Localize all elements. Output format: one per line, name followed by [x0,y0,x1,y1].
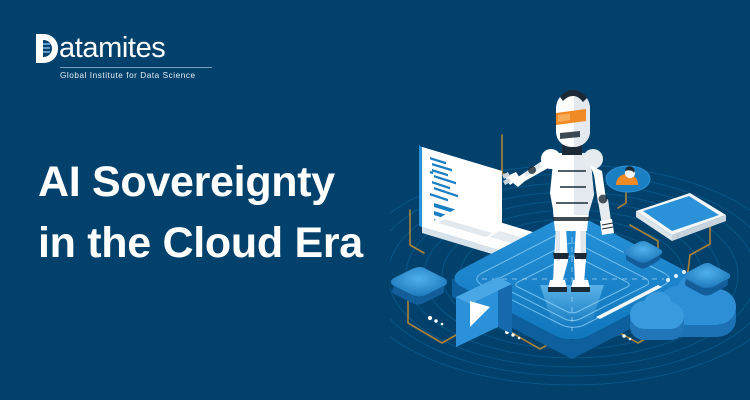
page-title: AI Sovereignty in the Cloud Era [38,152,438,274]
headline-line-2: in the Cloud Era [38,213,438,274]
datamites-d-icon [36,34,58,63]
brand-logo[interactable]: atamites Global Institute for Data Scien… [36,33,216,81]
logo-brand-text: atamites [59,34,165,63]
tablet-icon [636,193,726,241]
banner-root: atamites Global Institute for Data Scien… [0,0,750,400]
user-avatar [606,166,650,192]
logo-tagline: Global Institute for Data Science [60,71,216,80]
node-left [391,267,447,305]
logo-divider [60,67,212,68]
hero-illustration [390,75,750,400]
logo-wordmark: atamites [36,33,216,63]
headline-line-1: AI Sovereignty [38,152,438,213]
